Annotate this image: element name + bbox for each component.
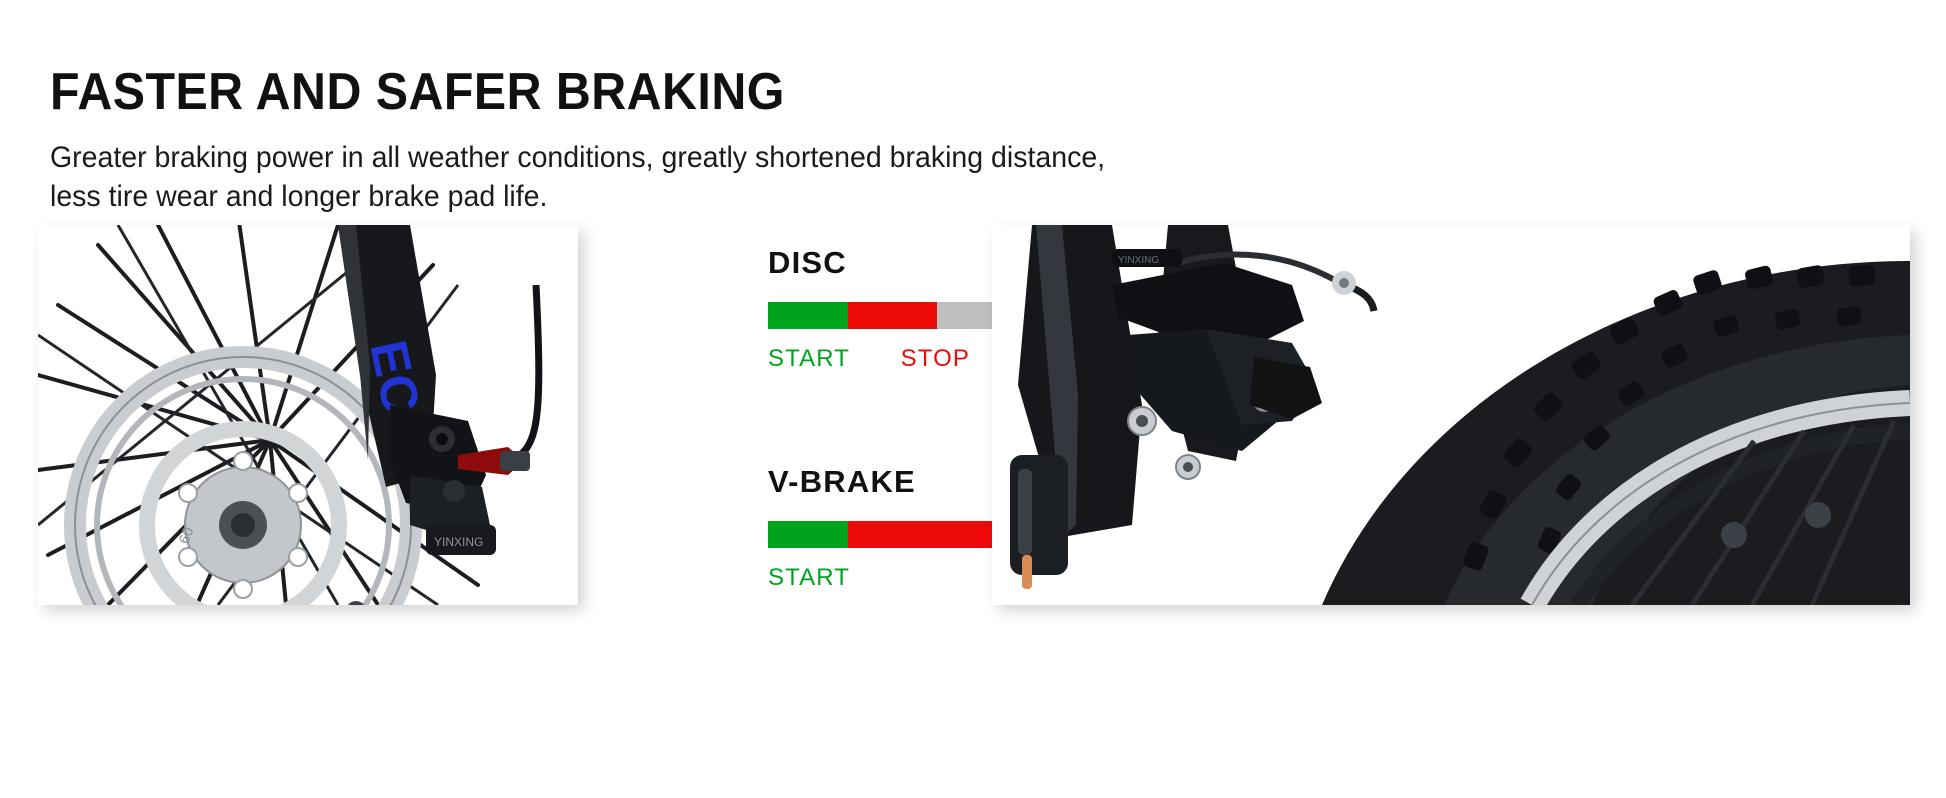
bar-label-stop-disc: STOP: [901, 345, 970, 373]
v-brake-photo-card: YINXING: [992, 225, 1910, 605]
bar-label-start-disc: START: [768, 345, 850, 373]
bar-segment-start-disc: [768, 302, 848, 329]
v-brake-photo: YINXING: [992, 225, 1910, 605]
content-row: 60 EC YINXING: [0, 0, 1946, 798]
bar-segment-start-vbrake: [768, 521, 848, 548]
svg-text:YINXING: YINXING: [1118, 255, 1159, 266]
v-brake-illustration: YINXING: [992, 225, 1910, 605]
bar-segment-stop-disc: [848, 302, 936, 329]
disc-brake-photo: 60 EC YINXING: [38, 225, 578, 605]
disc-brake-illustration: 60 EC YINXING: [38, 225, 578, 605]
disc-brake-photo-card: 60 EC YINXING: [38, 225, 578, 605]
bar-label-start-vbrake: START: [768, 564, 850, 592]
svg-text:YINXING: YINXING: [434, 535, 483, 549]
